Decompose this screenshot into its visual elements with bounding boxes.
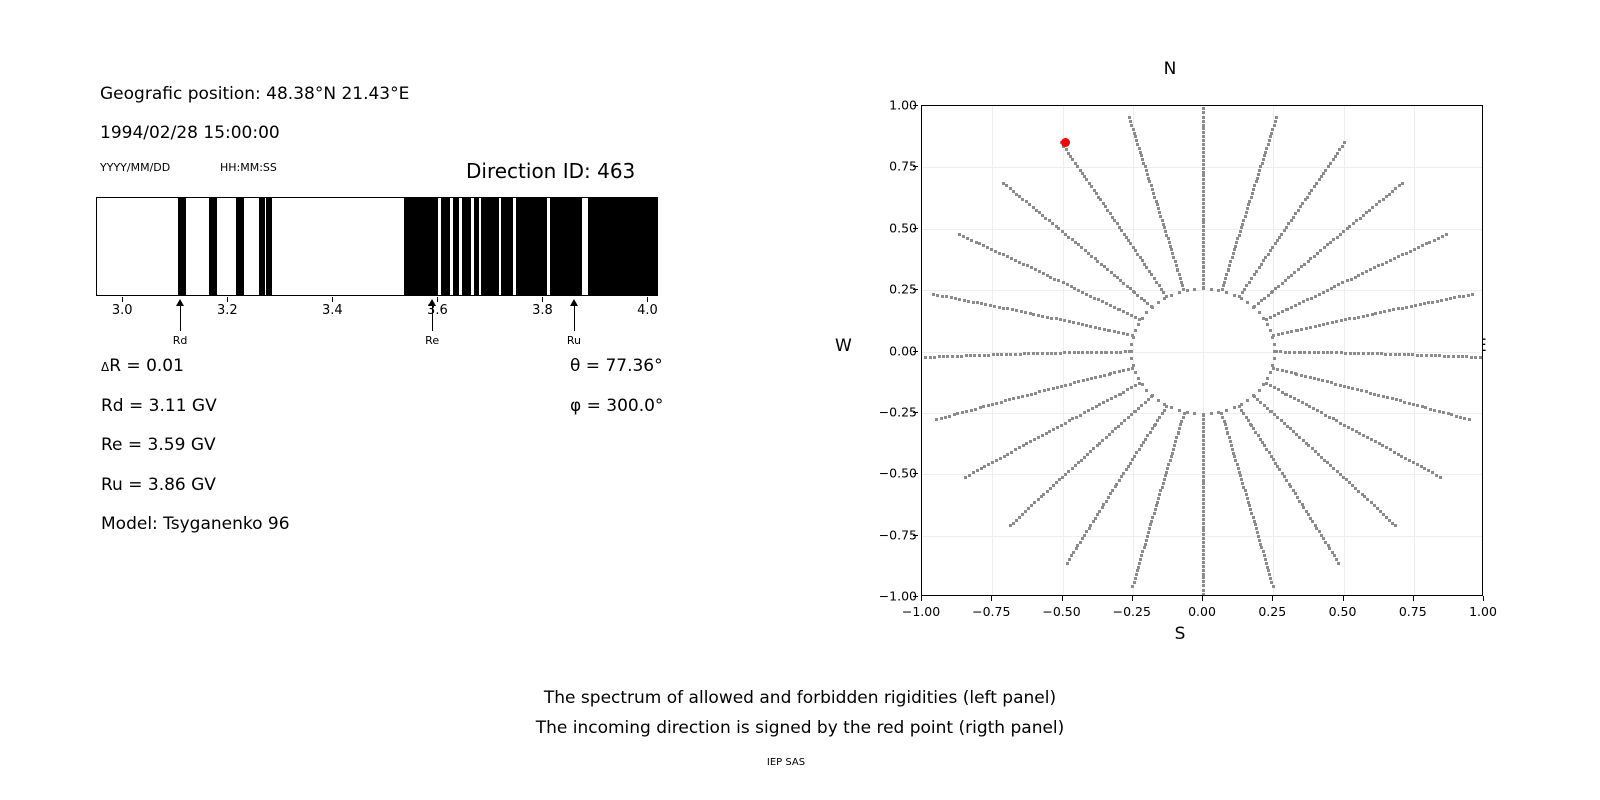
direction-point bbox=[1227, 268, 1230, 271]
forbidden-band bbox=[462, 198, 471, 295]
direction-point bbox=[1176, 268, 1179, 271]
direction-point bbox=[1140, 554, 1143, 557]
direction-point bbox=[1202, 274, 1205, 277]
direction-point bbox=[1318, 530, 1321, 533]
direction-point bbox=[1360, 389, 1363, 392]
direction-point bbox=[1434, 354, 1437, 357]
direction-point bbox=[1178, 409, 1181, 412]
direction-point bbox=[1202, 447, 1205, 450]
direction-point bbox=[1455, 415, 1458, 418]
direction-point bbox=[1141, 550, 1144, 553]
direction-point bbox=[1146, 173, 1149, 176]
direction-point bbox=[1344, 318, 1347, 321]
direction-point bbox=[1170, 294, 1173, 297]
direction-point bbox=[1202, 107, 1205, 110]
direction-point bbox=[1151, 306, 1154, 309]
direction-point bbox=[1231, 448, 1234, 451]
direction-point bbox=[1202, 194, 1205, 197]
direction-point bbox=[1067, 236, 1070, 239]
x-tick bbox=[647, 297, 648, 302]
direction-point bbox=[1378, 200, 1381, 203]
forbidden-band bbox=[236, 198, 244, 295]
direction-point bbox=[1238, 471, 1241, 474]
direction-point bbox=[1002, 253, 1005, 256]
direction-point bbox=[1381, 444, 1384, 447]
direction-point bbox=[1090, 377, 1093, 380]
direction-point bbox=[1397, 307, 1400, 310]
direction-point bbox=[1202, 171, 1205, 174]
direction-point bbox=[1122, 391, 1125, 394]
direction-point bbox=[1362, 434, 1365, 437]
direction-point bbox=[1459, 416, 1462, 419]
direction-point bbox=[1355, 430, 1358, 433]
direction-point bbox=[1202, 451, 1205, 454]
direction-point bbox=[999, 457, 1002, 460]
direction-point bbox=[1271, 336, 1274, 339]
direction-point bbox=[1098, 510, 1101, 513]
direction-point bbox=[1293, 397, 1296, 400]
direction-point bbox=[1156, 203, 1159, 206]
direction-point bbox=[1273, 124, 1276, 127]
direction-point bbox=[1270, 132, 1273, 135]
direction-point bbox=[1332, 158, 1335, 161]
direction-point bbox=[1255, 270, 1258, 273]
direction-point bbox=[1136, 143, 1139, 146]
direction-point bbox=[1085, 530, 1088, 533]
re-value: Re = 3.59 GV bbox=[101, 435, 216, 455]
direction-point bbox=[1049, 487, 1052, 490]
direction-point bbox=[1385, 261, 1388, 264]
direction-point bbox=[1468, 418, 1471, 421]
direction-point bbox=[1386, 396, 1389, 399]
direction-point bbox=[1136, 569, 1139, 572]
direction-point bbox=[1268, 573, 1271, 576]
direction-point bbox=[1094, 517, 1097, 520]
direction-point bbox=[1226, 432, 1229, 435]
direction-point bbox=[1286, 331, 1289, 334]
direction-point bbox=[1394, 524, 1397, 527]
direction-point bbox=[1160, 288, 1163, 291]
direction-point bbox=[1306, 196, 1309, 199]
direction-point bbox=[1079, 541, 1082, 544]
direction-point bbox=[1313, 185, 1316, 188]
direction-point bbox=[1234, 245, 1237, 248]
direction-point bbox=[1319, 249, 1322, 252]
caption-line-2: The incoming direction is signed by the … bbox=[536, 718, 1065, 738]
direction-point bbox=[1302, 300, 1305, 303]
direction-point bbox=[1271, 290, 1274, 293]
direction-point bbox=[1153, 512, 1156, 515]
y-tick-label: 1.00 bbox=[889, 98, 917, 113]
direction-point bbox=[1271, 246, 1274, 249]
direction-point bbox=[1399, 399, 1402, 402]
direction-point bbox=[1173, 444, 1176, 447]
direction-point bbox=[1056, 426, 1059, 429]
direction-point bbox=[1278, 236, 1281, 239]
direction-point bbox=[1126, 388, 1129, 391]
direction-point bbox=[987, 404, 990, 407]
direction-point bbox=[1142, 162, 1145, 165]
direction-point bbox=[1281, 310, 1284, 313]
direction-point bbox=[1129, 120, 1132, 123]
direction-point bbox=[1154, 508, 1157, 511]
direction-point bbox=[983, 465, 986, 468]
direction-point bbox=[1193, 288, 1196, 291]
direction-point bbox=[1308, 351, 1311, 354]
direction-point bbox=[942, 355, 945, 358]
direction-point bbox=[1322, 537, 1325, 540]
direction-point bbox=[1085, 178, 1088, 181]
direction-point bbox=[982, 244, 985, 247]
direction-point bbox=[1233, 248, 1236, 251]
direction-point bbox=[1450, 413, 1453, 416]
direction-point bbox=[1277, 285, 1280, 288]
direction-point bbox=[1225, 291, 1228, 294]
direction-point bbox=[1090, 351, 1093, 354]
direction-point bbox=[1262, 259, 1265, 262]
direction-point bbox=[1348, 317, 1351, 320]
direction-point bbox=[1273, 314, 1276, 317]
direction-point bbox=[1294, 212, 1297, 215]
direction-point bbox=[1225, 427, 1228, 430]
direction-point bbox=[1097, 196, 1100, 199]
direction-point bbox=[1155, 281, 1158, 284]
direction-point bbox=[969, 354, 972, 357]
direction-point bbox=[1126, 285, 1129, 288]
direction-point bbox=[1398, 353, 1401, 356]
direction-point bbox=[1384, 353, 1387, 356]
direction-point bbox=[970, 409, 973, 412]
direction-point bbox=[1073, 381, 1076, 384]
direction-point bbox=[1267, 253, 1270, 256]
datetime-label: 1994/02/28 15:00:00 bbox=[100, 123, 280, 143]
direction-point bbox=[1202, 533, 1205, 536]
direction-point bbox=[1150, 184, 1153, 187]
direction-point bbox=[1236, 237, 1239, 240]
direction-point bbox=[965, 410, 968, 413]
direction-point bbox=[1262, 383, 1265, 386]
direction-point bbox=[1075, 416, 1078, 419]
direction-point bbox=[1100, 263, 1103, 266]
direction-point bbox=[1403, 401, 1406, 404]
direction-point bbox=[1202, 589, 1205, 592]
direction-point bbox=[972, 471, 975, 474]
direction-point bbox=[976, 469, 979, 472]
direction-point bbox=[1290, 371, 1293, 374]
direction-point bbox=[1240, 226, 1243, 229]
direction-point bbox=[1355, 219, 1358, 222]
direction-point bbox=[1260, 299, 1263, 302]
direction-point bbox=[1087, 252, 1090, 255]
direction-point bbox=[956, 412, 959, 415]
direction-point bbox=[1113, 330, 1116, 333]
direction-point bbox=[1269, 316, 1272, 319]
direction-point bbox=[1202, 561, 1205, 564]
direction-point bbox=[1273, 343, 1276, 346]
direction-point bbox=[1068, 320, 1071, 323]
direction-point bbox=[1223, 281, 1226, 284]
direction-point bbox=[980, 302, 983, 305]
direction-point bbox=[975, 241, 978, 244]
direction-point bbox=[1233, 294, 1236, 297]
direction-point bbox=[1094, 376, 1097, 379]
forbidden-band bbox=[501, 198, 513, 295]
direction-point bbox=[1298, 500, 1301, 503]
direction-point bbox=[1400, 455, 1403, 458]
direction-point bbox=[1202, 124, 1205, 127]
direction-point bbox=[1202, 186, 1205, 189]
direction-point bbox=[1140, 404, 1143, 407]
direction-point bbox=[1246, 399, 1249, 402]
direction-point bbox=[1311, 520, 1314, 523]
direction-point bbox=[1431, 301, 1434, 304]
direction-point bbox=[1202, 282, 1205, 285]
direction-point bbox=[1060, 385, 1063, 388]
direction-point bbox=[1162, 291, 1165, 294]
direction-point bbox=[956, 355, 959, 358]
direction-point bbox=[1268, 139, 1271, 142]
direction-point bbox=[1335, 558, 1338, 561]
direction-point bbox=[1127, 416, 1130, 419]
direction-point bbox=[951, 355, 954, 358]
x-tick-label: −0.50 bbox=[1042, 604, 1080, 619]
direction-point bbox=[1095, 351, 1098, 354]
x-tick-label: 3.2 bbox=[217, 303, 238, 318]
x-tick bbox=[332, 297, 333, 302]
direction-point bbox=[1344, 352, 1347, 355]
direction-point bbox=[1267, 294, 1270, 297]
direction-point bbox=[1320, 411, 1323, 414]
marker-label-ru: Ru bbox=[567, 334, 581, 347]
direction-point bbox=[1272, 585, 1275, 588]
direction-point bbox=[1018, 516, 1021, 519]
direction-point bbox=[1107, 329, 1110, 332]
direction-point bbox=[1304, 375, 1307, 378]
direction-point bbox=[1423, 302, 1426, 305]
direction-point bbox=[1152, 192, 1155, 195]
direction-point bbox=[1088, 527, 1091, 530]
direction-point bbox=[1009, 353, 1012, 356]
direction-point bbox=[1267, 569, 1270, 572]
direction-point bbox=[1374, 312, 1377, 315]
direction-point bbox=[1380, 352, 1383, 355]
direction-point bbox=[1309, 376, 1312, 379]
direction-point bbox=[1088, 182, 1091, 185]
direction-point bbox=[1174, 260, 1177, 263]
direction-point bbox=[1024, 311, 1027, 314]
direction-point bbox=[1134, 316, 1137, 319]
direction-point bbox=[974, 408, 977, 411]
direction-point bbox=[1102, 401, 1105, 404]
direction-point bbox=[1202, 225, 1205, 228]
x-tick bbox=[1132, 596, 1133, 601]
x-tick bbox=[1272, 596, 1273, 601]
delta-symbol: Δ bbox=[101, 360, 109, 374]
direction-point bbox=[1274, 287, 1277, 290]
direction-point bbox=[1202, 541, 1205, 544]
direction-point bbox=[1383, 310, 1386, 313]
direction-point bbox=[1445, 233, 1448, 236]
direction-point bbox=[1174, 440, 1177, 443]
direction-point bbox=[1233, 406, 1236, 409]
gridline-vertical bbox=[992, 106, 993, 595]
direction-point bbox=[1046, 274, 1049, 277]
direction-point bbox=[1220, 412, 1223, 415]
direction-point bbox=[1281, 332, 1284, 335]
direction-point bbox=[1284, 279, 1287, 282]
direction-point bbox=[1435, 474, 1438, 477]
direction-point bbox=[1113, 219, 1116, 222]
direction-point bbox=[935, 418, 938, 421]
direction-point bbox=[1145, 169, 1148, 172]
direction-point bbox=[1303, 351, 1306, 354]
direction-point bbox=[1470, 356, 1473, 359]
direction-point bbox=[1202, 249, 1205, 252]
direction-point bbox=[1202, 584, 1205, 587]
direction-point bbox=[1110, 397, 1113, 400]
direction-point bbox=[1294, 304, 1297, 307]
direction-point bbox=[1333, 554, 1336, 557]
direction-point bbox=[987, 463, 990, 466]
direction-point bbox=[1202, 261, 1205, 264]
direction-point bbox=[1133, 410, 1136, 413]
direction-point bbox=[1069, 155, 1072, 158]
direction-point bbox=[1141, 383, 1144, 386]
direction-point bbox=[1086, 453, 1089, 456]
direction-point bbox=[1423, 467, 1426, 470]
direction-point bbox=[1071, 417, 1074, 420]
direction-point bbox=[968, 474, 971, 477]
direction-point bbox=[1143, 546, 1146, 549]
forbidden-band bbox=[259, 198, 265, 295]
direction-point bbox=[1362, 214, 1365, 217]
direction-point bbox=[1159, 215, 1162, 218]
direction-point bbox=[1285, 393, 1288, 396]
direction-point bbox=[1118, 393, 1121, 396]
direction-point bbox=[1067, 470, 1070, 473]
direction-point bbox=[1315, 527, 1318, 530]
direction-point bbox=[1238, 234, 1241, 237]
direction-point bbox=[1260, 546, 1263, 549]
direction-point bbox=[1157, 301, 1160, 304]
direction-point bbox=[1122, 282, 1125, 285]
direction-point bbox=[1447, 412, 1450, 415]
direction-point bbox=[1202, 422, 1205, 425]
direction-point bbox=[1172, 256, 1175, 259]
direction-point bbox=[1250, 512, 1253, 515]
direction-point bbox=[1096, 513, 1099, 516]
direction-point bbox=[1186, 289, 1189, 292]
direction-point bbox=[1052, 428, 1055, 431]
direction-point bbox=[1318, 324, 1321, 327]
direction-point bbox=[1122, 332, 1125, 335]
direction-point bbox=[1052, 484, 1055, 487]
direction-point bbox=[1092, 520, 1095, 523]
forbidden-band bbox=[550, 198, 582, 295]
direction-point bbox=[1071, 238, 1074, 241]
direction-point bbox=[1006, 307, 1009, 310]
direction-point bbox=[1353, 317, 1356, 320]
direction-point bbox=[1385, 446, 1388, 449]
direction-point bbox=[944, 416, 947, 419]
direction-point bbox=[1101, 300, 1104, 303]
direction-point bbox=[1073, 287, 1076, 290]
direction-point bbox=[1317, 378, 1320, 381]
x-tick bbox=[1202, 596, 1203, 601]
direction-point bbox=[1336, 236, 1339, 239]
direction-point bbox=[1105, 500, 1108, 503]
direction-point bbox=[958, 233, 961, 236]
direction-point bbox=[1224, 277, 1227, 280]
direction-point bbox=[1202, 265, 1205, 268]
direction-point bbox=[1093, 297, 1096, 300]
x-tick-label: −0.75 bbox=[972, 604, 1010, 619]
direction-point bbox=[1272, 367, 1275, 370]
direction-point bbox=[1132, 246, 1135, 249]
direction-point bbox=[1030, 504, 1033, 507]
direction-point bbox=[954, 297, 957, 300]
direction-point bbox=[983, 354, 986, 357]
compass-label-north: N bbox=[1164, 59, 1177, 79]
direction-point bbox=[1379, 311, 1382, 314]
direction-point bbox=[1245, 211, 1248, 214]
direction-point bbox=[1083, 456, 1086, 459]
x-tick bbox=[1483, 596, 1484, 601]
direction-point bbox=[1091, 407, 1094, 410]
direction-point bbox=[1037, 314, 1040, 317]
caption-line-1: The spectrum of allowed and forbidden ri… bbox=[544, 688, 1056, 708]
direction-point bbox=[1023, 352, 1026, 355]
direction-point bbox=[1159, 489, 1162, 492]
direction-point bbox=[1269, 371, 1272, 374]
direction-point bbox=[1329, 162, 1332, 165]
direction-point bbox=[1424, 406, 1427, 409]
direction-point bbox=[1274, 120, 1277, 123]
direction-point bbox=[1438, 354, 1441, 357]
direction-point bbox=[1165, 234, 1168, 237]
direction-point bbox=[1421, 405, 1424, 408]
direction-point bbox=[1202, 151, 1205, 154]
direction-point bbox=[1241, 482, 1244, 485]
direction-point bbox=[1258, 389, 1261, 392]
direction-point bbox=[929, 356, 932, 359]
direction-point bbox=[1270, 581, 1273, 584]
direction-point bbox=[1243, 288, 1246, 291]
direction-point bbox=[1132, 290, 1135, 293]
direction-point bbox=[1425, 354, 1428, 357]
direction-point bbox=[1202, 557, 1205, 560]
direction-point bbox=[1269, 135, 1272, 138]
direction-point bbox=[1073, 351, 1076, 354]
time-format-hint: HH:MM:SS bbox=[220, 161, 277, 174]
rd-value: Rd = 3.11 GV bbox=[101, 396, 217, 416]
direction-point bbox=[1259, 165, 1262, 168]
direction-point bbox=[1124, 350, 1127, 353]
direction-point bbox=[1148, 527, 1151, 530]
direction-point bbox=[1337, 562, 1340, 565]
direction-point bbox=[1443, 355, 1446, 358]
direction-point bbox=[1258, 266, 1261, 269]
direction-point bbox=[1099, 198, 1102, 201]
direction-point bbox=[1022, 263, 1025, 266]
direction-point bbox=[1029, 312, 1032, 315]
direction-point bbox=[1298, 302, 1301, 305]
direction-point bbox=[1335, 419, 1338, 422]
direction-point bbox=[1240, 297, 1243, 300]
direction-point bbox=[1063, 351, 1066, 354]
direction-point bbox=[1388, 193, 1391, 196]
direction-point bbox=[1309, 517, 1312, 520]
